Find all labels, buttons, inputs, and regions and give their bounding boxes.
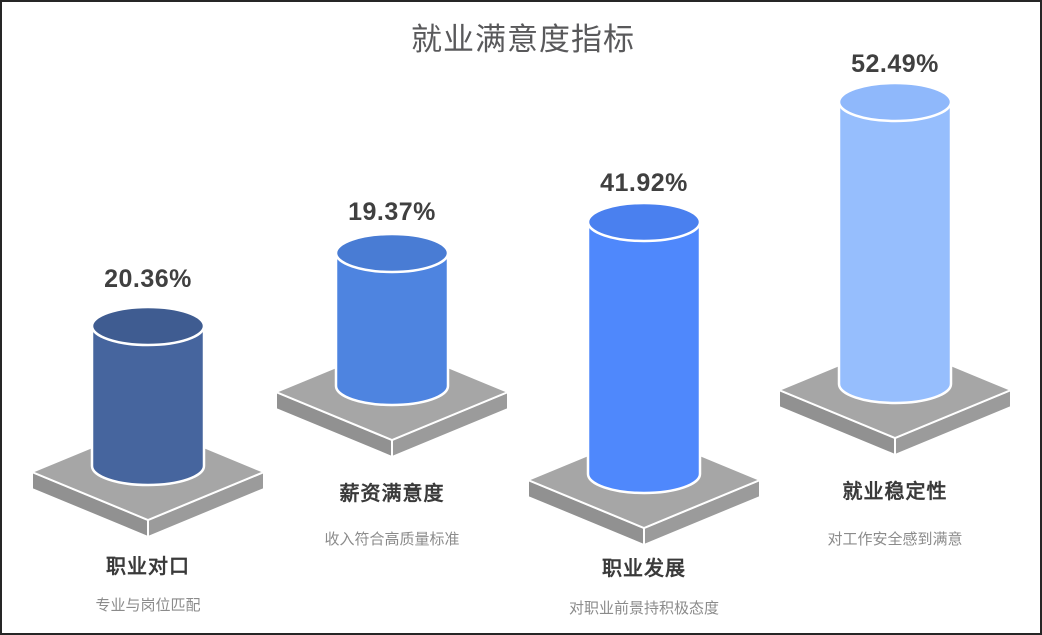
- bar-group[interactable]: 52.49%就业稳定性对工作安全感到满意: [770, 2, 1020, 635]
- bar-3d-graphic: [519, 2, 769, 635]
- bar-group[interactable]: 20.36%职业对口专业与岗位匹配: [23, 2, 273, 635]
- plot-area: 20.36%职业对口专业与岗位匹配19.37%薪资满意度收入符合高质量标准41.…: [2, 2, 1042, 635]
- cylinder-top: [336, 234, 448, 272]
- bar-sublabel: 专业与岗位匹配: [23, 594, 273, 615]
- bar-category-label: 职业发展: [519, 552, 769, 581]
- cylinder-body: [588, 222, 700, 493]
- bar-category-label: 职业对口: [23, 550, 273, 579]
- cylinder-body: [839, 102, 951, 403]
- bar-sublabel: 收入符合高质量标准: [267, 528, 517, 549]
- cylinder-body: [92, 326, 204, 485]
- bar-sublabel: 对职业前景持积极态度: [519, 597, 769, 618]
- bar-category-label: 薪资满意度: [267, 477, 517, 506]
- cylinder-top: [839, 83, 951, 121]
- cylinder-body: [336, 253, 448, 405]
- cylinder-top: [92, 307, 204, 345]
- bar-sublabel: 对工作安全感到满意: [770, 528, 1020, 549]
- bar-3d-graphic: [23, 2, 273, 635]
- bar-group[interactable]: 41.92%职业发展对职业前景持积极态度: [519, 2, 769, 635]
- bar-category-label: 就业稳定性: [770, 475, 1020, 504]
- cylinder-top: [588, 203, 700, 241]
- chart-container: 就业满意度指标 20.36%职业对口专业与岗位匹配19.37%薪资满意度收入符合…: [0, 0, 1042, 635]
- bar-group[interactable]: 19.37%薪资满意度收入符合高质量标准: [267, 2, 517, 635]
